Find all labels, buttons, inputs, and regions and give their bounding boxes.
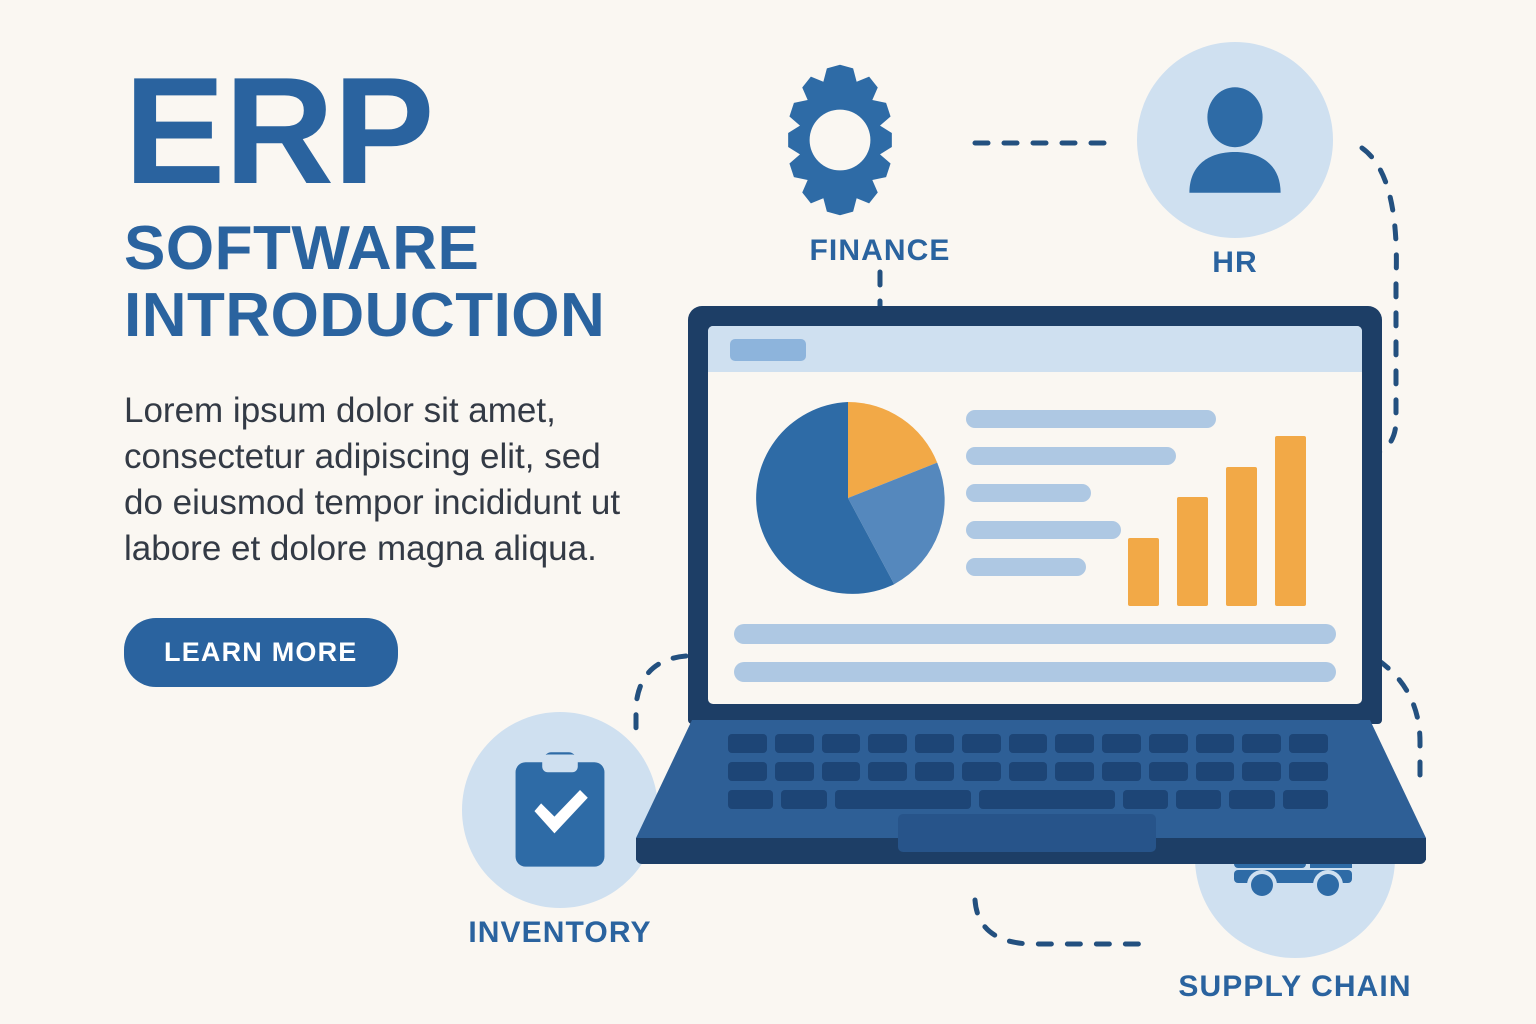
node-hr[interactable]: HR [1115, 42, 1355, 280]
key[interactable] [728, 790, 773, 809]
footer-line [734, 624, 1336, 644]
key[interactable] [728, 734, 767, 753]
key[interactable] [835, 790, 971, 809]
key[interactable] [728, 762, 767, 781]
key[interactable] [1009, 734, 1048, 753]
key[interactable] [1102, 762, 1141, 781]
inventory-icon-circle [462, 712, 658, 908]
keyboard-row [728, 762, 1328, 781]
gear-icon [760, 60, 920, 220]
laptop-illustration [636, 306, 1426, 896]
pie-chart [748, 398, 948, 598]
placeholder-line [966, 484, 1091, 502]
title-subline-1: SOFTWARE [124, 216, 644, 283]
pie-chart-svg [748, 398, 948, 598]
key[interactable] [1196, 734, 1235, 753]
bar [1226, 467, 1257, 606]
laptop-trackpad[interactable] [898, 814, 1156, 852]
key[interactable] [1102, 734, 1141, 753]
hero-body-text: Lorem ipsum dolor sit amet, consectetur … [124, 388, 624, 573]
user-icon [1175, 80, 1295, 200]
key[interactable] [979, 790, 1115, 809]
key[interactable] [775, 734, 814, 753]
bar [1128, 538, 1159, 606]
key[interactable] [822, 734, 861, 753]
key[interactable] [1149, 762, 1188, 781]
key[interactable] [1055, 734, 1094, 753]
hr-icon-circle [1137, 42, 1333, 238]
learn-more-button[interactable]: LEARN MORE [124, 618, 398, 687]
footer-line [734, 662, 1336, 682]
bar [1275, 436, 1306, 606]
node-finance-label: FINANCE [760, 234, 1000, 268]
bar-chart [1128, 436, 1328, 606]
key[interactable] [1289, 734, 1328, 753]
bar [1177, 497, 1208, 606]
screen-tab-pill[interactable] [730, 339, 806, 361]
laptop-lid [688, 306, 1382, 724]
key[interactable] [1283, 790, 1328, 809]
screen-footer-lines [734, 606, 1336, 682]
placeholder-line [966, 558, 1086, 576]
connector-laptop-supply [975, 900, 1150, 944]
node-inventory-label: INVENTORY [440, 916, 680, 950]
key[interactable] [1289, 762, 1328, 781]
key[interactable] [1242, 734, 1281, 753]
key[interactable] [1229, 790, 1274, 809]
key[interactable] [1009, 762, 1048, 781]
keyboard-row [728, 734, 1328, 753]
node-hr-label: HR [1115, 246, 1355, 280]
keyboard-row [728, 790, 1328, 809]
infographic-canvas: ERP SOFTWARE INTRODUCTION Lorem ipsum do… [0, 0, 1536, 1024]
placeholder-line [966, 521, 1121, 539]
key[interactable] [822, 762, 861, 781]
screen-title-bar [708, 326, 1362, 372]
key[interactable] [915, 762, 954, 781]
laptop-screen [708, 326, 1362, 704]
key[interactable] [1055, 762, 1094, 781]
key[interactable] [1176, 790, 1221, 809]
key[interactable] [1242, 762, 1281, 781]
page-title: ERP [124, 62, 644, 202]
node-finance[interactable]: FINANCE [760, 60, 1000, 268]
hero-text-column: ERP SOFTWARE INTRODUCTION Lorem ipsum do… [124, 62, 644, 687]
key[interactable] [775, 762, 814, 781]
key[interactable] [868, 734, 907, 753]
key[interactable] [1149, 734, 1188, 753]
key[interactable] [781, 790, 826, 809]
laptop-keyboard[interactable] [728, 734, 1328, 818]
key[interactable] [962, 762, 1001, 781]
title-subline-2: INTRODUCTION [124, 283, 644, 350]
key[interactable] [1123, 790, 1168, 809]
key[interactable] [962, 734, 1001, 753]
key[interactable] [868, 762, 907, 781]
node-supply-chain-label: SUPPLY CHAIN [1170, 970, 1420, 1004]
key[interactable] [1196, 762, 1235, 781]
placeholder-line [966, 410, 1216, 428]
key[interactable] [915, 734, 954, 753]
clipboard-check-icon [504, 750, 616, 870]
